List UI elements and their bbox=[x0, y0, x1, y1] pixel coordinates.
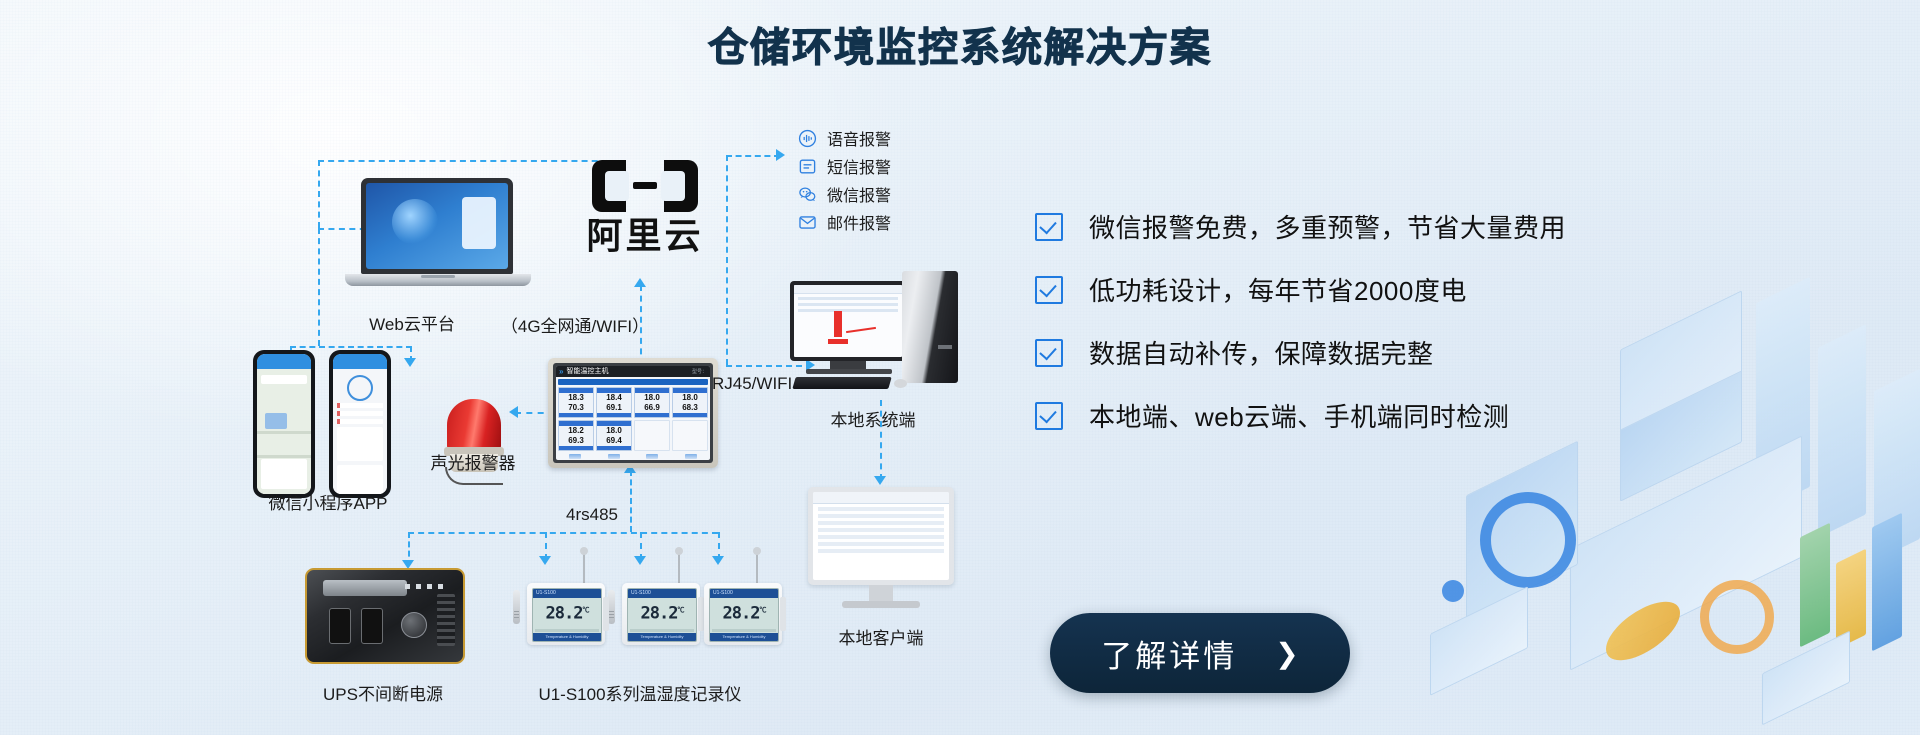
local-client-monitor bbox=[808, 487, 954, 617]
logger-probe-2 bbox=[608, 590, 615, 624]
controller-bezel: » 智能温控主机 型号： 18.370.3 18.469.1 18.066.9 … bbox=[553, 363, 713, 463]
label-beacon: 声光报警器 bbox=[431, 449, 516, 474]
phone1-list bbox=[261, 459, 307, 489]
client-monitor bbox=[808, 487, 954, 585]
learn-more-button[interactable]: 了解详情 ❯ bbox=[1050, 613, 1350, 693]
alibaba-cloud-icon bbox=[592, 160, 698, 212]
logger-lcd-3: U1-S100 28.2℃ Temperature & Humidity bbox=[709, 588, 779, 642]
reading-hum: 70.3 bbox=[559, 403, 593, 413]
ups-vent bbox=[437, 594, 455, 646]
pc-chart-line bbox=[846, 327, 876, 333]
logger-caption-1: Temperature & Humidity bbox=[533, 633, 601, 641]
laptop-screen-content bbox=[366, 183, 508, 269]
local-system-workstation bbox=[790, 271, 976, 399]
phone1-map bbox=[257, 369, 311, 494]
phone2-statusbar bbox=[333, 354, 387, 369]
logger-reading-3: 28.2℃ bbox=[710, 598, 778, 626]
connector-cloud-trunk-top bbox=[318, 160, 618, 162]
pc-tower bbox=[902, 271, 958, 383]
reading-cell: 18.068.3 bbox=[672, 387, 708, 418]
reading-cell-empty bbox=[634, 420, 670, 451]
promo-banner: 仓储环境监控系统解决方案 bbox=[0, 0, 1920, 735]
controller-screen: » 智能温控主机 型号： 18.370.3 18.469.1 18.066.9 … bbox=[556, 366, 710, 460]
arrow-to-logger-3 bbox=[712, 556, 724, 565]
phone-dashboard-view bbox=[329, 350, 391, 498]
alarm-channel-label: 微信报警 bbox=[827, 182, 891, 206]
phone2-row-1 bbox=[337, 403, 383, 408]
ups-power-supply bbox=[305, 568, 465, 664]
label-local-system: 本地系统端 bbox=[831, 406, 916, 431]
client-monitor-base bbox=[842, 601, 920, 608]
pc-screen-row bbox=[798, 309, 898, 312]
reading-temp: 18.0 bbox=[635, 393, 669, 403]
client-table-row bbox=[818, 549, 944, 553]
pc-screen-header bbox=[794, 285, 902, 294]
ups-display bbox=[323, 580, 407, 596]
label-network-type: （4G全网通/WIFI） bbox=[501, 312, 649, 337]
label-data-loggers: U1-S100系列温湿度记录仪 bbox=[538, 680, 741, 705]
alibaba-mark-bar bbox=[633, 182, 657, 189]
feature-label: 本地端、web云端、手机端同时检测 bbox=[1089, 397, 1509, 434]
phone-map-view bbox=[253, 350, 315, 498]
reading-cell: 18.269.3 bbox=[558, 420, 594, 451]
phone2-grid-1 bbox=[337, 427, 383, 461]
label-web-cloud-platform: Web云平台 bbox=[369, 310, 455, 335]
phone1-screen bbox=[257, 354, 311, 494]
data-logger-1: U1-S100 28.2℃ Temperature & Humidity bbox=[527, 583, 605, 645]
pc-monitor-stand bbox=[830, 361, 866, 369]
arrow-to-local-client bbox=[874, 476, 886, 485]
alarm-channel-wechat: 微信报警 bbox=[798, 180, 891, 208]
reading-cell-empty bbox=[672, 420, 708, 451]
pc-monitor bbox=[790, 281, 906, 361]
checkbox-checked-icon bbox=[1035, 276, 1063, 304]
voice-wave-icon bbox=[798, 129, 817, 148]
client-table-row bbox=[818, 535, 944, 539]
logger-caption-3: Temperature & Humidity bbox=[710, 633, 778, 641]
logger-subbar-2 bbox=[630, 629, 694, 632]
alarm-channel-voice: 语音报警 bbox=[798, 124, 891, 152]
logger-reading-2: 28.2℃ bbox=[628, 598, 696, 626]
alarm-channel-label: 短信报警 bbox=[827, 154, 891, 178]
logger-buttons-3 bbox=[780, 597, 786, 631]
phone2-screen bbox=[333, 354, 387, 494]
reading-hum: 69.4 bbox=[597, 436, 631, 446]
connector-phones-split bbox=[290, 346, 412, 348]
label-local-client: 本地客户端 bbox=[839, 624, 924, 649]
logger-lcd-1: U1-S100 28.2℃ Temperature & Humidity bbox=[532, 588, 602, 642]
laptop-base bbox=[345, 274, 531, 286]
reading-temp: 18.0 bbox=[673, 393, 707, 403]
page-title: 仓储环境监控系统解决方案 bbox=[0, 22, 1920, 74]
arrow-to-alarm-list bbox=[776, 149, 785, 161]
checkbox-checked-icon bbox=[1035, 339, 1063, 367]
feature-item-1: 微信报警免费，多重预警，节省大量费用 bbox=[1035, 195, 1566, 258]
checkbox-checked-icon bbox=[1035, 213, 1063, 241]
client-table-row bbox=[818, 528, 944, 532]
logger-model-3: U1-S100 bbox=[710, 589, 778, 598]
phone2-row-3 bbox=[337, 419, 383, 424]
logger-unit-2: ℃ bbox=[677, 606, 683, 614]
controller-reading-grid: 18.370.3 18.469.1 18.066.9 18.068.3 18.2… bbox=[556, 387, 710, 453]
logger-unit-3: ℃ bbox=[759, 606, 765, 614]
pc-monitor-foot bbox=[806, 369, 892, 374]
wechat-icon bbox=[798, 185, 817, 204]
reading-hum: 69.3 bbox=[559, 436, 593, 446]
pc-chart-bar-2 bbox=[828, 339, 848, 344]
arrow-to-logger-2 bbox=[634, 556, 646, 565]
connector-cloud-alarm-vert bbox=[726, 155, 728, 365]
feature-item-2: 低功耗设计，每年节省2000度电 bbox=[1035, 258, 1566, 321]
alibaba-mark-right bbox=[664, 160, 698, 212]
alarm-channel-sms: 短信报警 bbox=[798, 152, 891, 180]
reading-hum: 68.3 bbox=[673, 403, 707, 413]
controller-footer bbox=[556, 453, 710, 460]
client-screen bbox=[813, 492, 949, 580]
laptop-screen bbox=[361, 178, 513, 274]
mini-program-phones bbox=[253, 350, 403, 498]
controller-tabbar bbox=[558, 379, 708, 385]
logger-reading-1: 28.2℃ bbox=[533, 598, 601, 626]
phone1-statusbar bbox=[257, 354, 311, 369]
reading-hum: 69.1 bbox=[597, 403, 631, 413]
connector-rs485-bus bbox=[408, 532, 718, 534]
label-rj45-wifi: RJ45/WIFI bbox=[712, 374, 792, 394]
label-mini-program-app: 微信小程序APP bbox=[268, 489, 387, 514]
reading-temp: 18.2 bbox=[559, 426, 593, 436]
data-logger-2: U1-S100 28.2℃ Temperature & Humidity bbox=[622, 583, 700, 645]
phone2-dashboard bbox=[333, 369, 387, 494]
label-ups: UPS不间断电源 bbox=[323, 680, 443, 705]
chevron-right-icon: » bbox=[559, 367, 563, 376]
chevron-right-icon: ❯ bbox=[1275, 637, 1298, 670]
reading-temp: 18.4 bbox=[597, 393, 631, 403]
feature-label: 低功耗设计，每年节省2000度电 bbox=[1089, 271, 1467, 308]
logger-buttons-1 bbox=[603, 597, 609, 631]
phone2-row-2 bbox=[337, 411, 383, 416]
connector-to-phones-vert bbox=[318, 228, 320, 346]
data-logger-3: U1-S100 28.2℃ Temperature & Humidity bbox=[704, 583, 782, 645]
arrow-to-logger-1 bbox=[539, 556, 551, 565]
arrow-to-phone-2 bbox=[404, 358, 416, 367]
ups-indicator-dots bbox=[405, 584, 449, 589]
client-screen-header bbox=[813, 492, 949, 504]
client-monitor-stand bbox=[869, 585, 893, 601]
reading-cell: 18.370.3 bbox=[558, 387, 594, 418]
pc-screen-row bbox=[798, 297, 898, 300]
connector-controller-bus bbox=[630, 470, 632, 532]
arrow-to-cloud bbox=[634, 278, 646, 287]
reading-temp: 18.0 bbox=[597, 426, 631, 436]
logger-value-2: 28.2 bbox=[641, 604, 678, 624]
pc-screen bbox=[794, 285, 902, 357]
alarm-channel-list: 语音报警 短信报警 微信报警 邮件报警 bbox=[798, 124, 891, 236]
arrow-to-beacon bbox=[509, 406, 518, 418]
controller-titlebar: » 智能温控主机 型号： bbox=[556, 366, 710, 377]
label-rs485: 4rs485 bbox=[566, 505, 618, 525]
logger-value-3: 28.2 bbox=[723, 604, 760, 624]
feature-item-3: 数据自动补传，保障数据完整 bbox=[1035, 321, 1566, 384]
controller-serial: 型号： bbox=[692, 368, 707, 375]
logger-lcd-2: U1-S100 28.2℃ Temperature & Humidity bbox=[627, 588, 697, 642]
logger-value-1: 28.2 bbox=[546, 604, 583, 624]
logger-subbar-1 bbox=[535, 629, 599, 632]
reading-cell: 18.069.4 bbox=[596, 420, 632, 451]
alibaba-cloud-logo: 阿里云 bbox=[580, 160, 710, 270]
alarm-channel-label: 邮件报警 bbox=[827, 210, 891, 234]
smart-temperature-controller: » 智能温控主机 型号： 18.370.3 18.469.1 18.066.9 … bbox=[548, 358, 718, 468]
alibaba-mark-left bbox=[592, 160, 626, 212]
phone1-road-2 bbox=[257, 455, 311, 458]
pc-mouse bbox=[894, 379, 907, 388]
connector-cloud-alarm-top bbox=[726, 155, 780, 157]
logger-subbar-3 bbox=[712, 629, 776, 632]
feature-list: 微信报警免费，多重预警，节省大量费用 低功耗设计，每年节省2000度电 数据自动… bbox=[1035, 195, 1566, 447]
alarm-channel-email: 邮件报警 bbox=[798, 208, 891, 236]
controller-brand: 智能温控主机 bbox=[566, 366, 608, 376]
logger-model-2: U1-S100 bbox=[628, 589, 696, 598]
ups-port-2 bbox=[361, 608, 383, 644]
connector-cloud-to-laptop-vert bbox=[318, 160, 320, 228]
checkbox-checked-icon bbox=[1035, 402, 1063, 430]
sms-message-icon bbox=[798, 157, 817, 176]
beacon-dome bbox=[447, 399, 501, 451]
phone2-gauge bbox=[347, 375, 373, 401]
client-table-row bbox=[818, 542, 944, 546]
phone1-road-1 bbox=[257, 431, 311, 434]
learn-more-label: 了解详情 bbox=[1101, 631, 1237, 676]
reading-temp: 18.3 bbox=[559, 393, 593, 403]
client-table-row bbox=[818, 507, 944, 511]
feature-item-4: 本地端、web云端、手机端同时检测 bbox=[1035, 384, 1566, 447]
ups-power-knob bbox=[401, 612, 427, 638]
feature-label: 数据自动补传，保障数据完整 bbox=[1089, 334, 1434, 371]
alibaba-cloud-name: 阿里云 bbox=[580, 216, 710, 258]
pc-screen-row bbox=[798, 303, 898, 306]
feature-label: 微信报警免费，多重预警，节省大量费用 bbox=[1089, 208, 1566, 245]
client-table-row bbox=[818, 514, 944, 518]
logger-unit-1: ℃ bbox=[582, 606, 588, 614]
alarm-channel-label: 语音报警 bbox=[827, 126, 891, 150]
reading-cell: 18.066.9 bbox=[634, 387, 670, 418]
email-icon bbox=[798, 213, 817, 232]
pc-keyboard bbox=[792, 377, 891, 389]
reading-hum: 66.9 bbox=[635, 403, 669, 413]
pc-chart-bar bbox=[834, 311, 842, 337]
client-table-row bbox=[818, 521, 944, 525]
laptop-screen-card bbox=[462, 197, 496, 249]
logger-probe-1 bbox=[513, 590, 520, 624]
logger-caption-2: Temperature & Humidity bbox=[628, 633, 696, 641]
reading-cell: 18.469.1 bbox=[596, 387, 632, 418]
web-cloud-platform-laptop bbox=[345, 178, 531, 298]
ups-port-1 bbox=[329, 608, 351, 644]
logger-model-1: U1-S100 bbox=[533, 589, 601, 598]
